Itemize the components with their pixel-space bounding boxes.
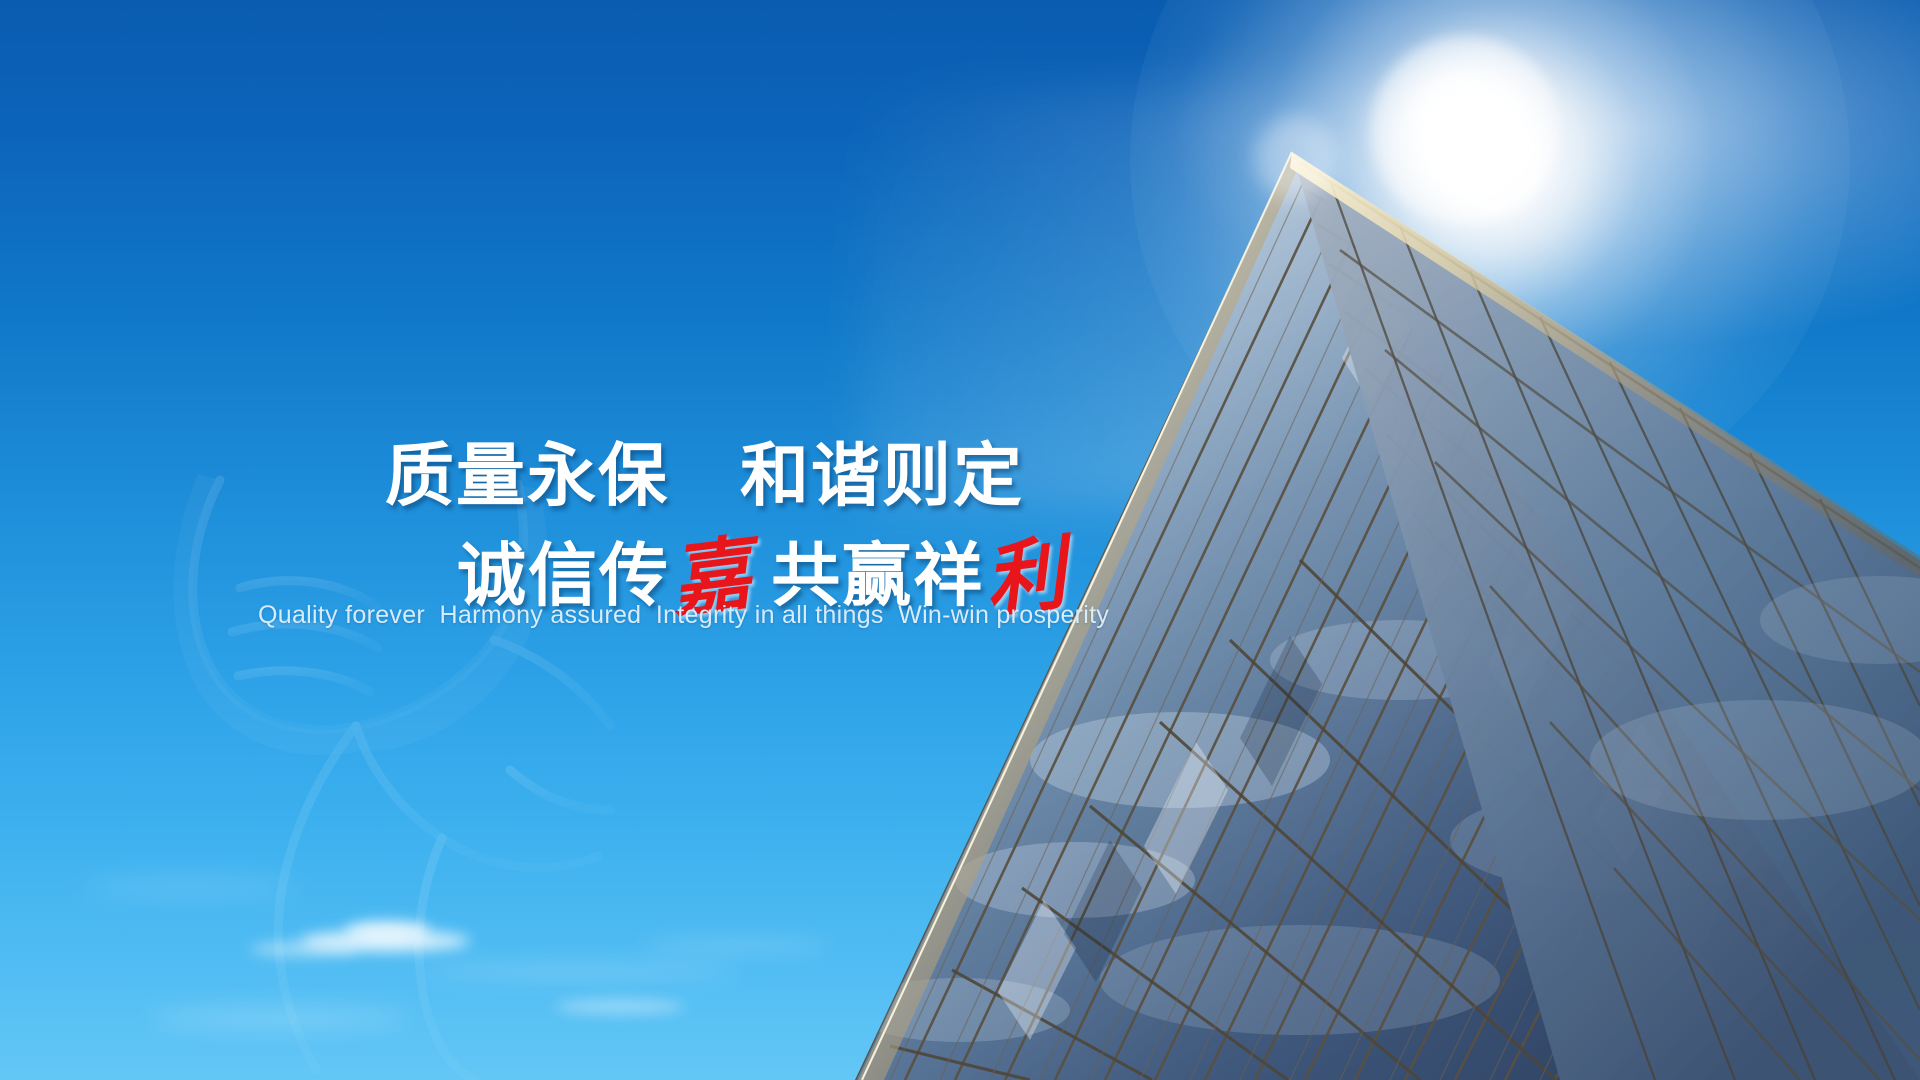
headline-line-2: 诚信传嘉 共赢祥利 bbox=[330, 462, 1064, 680]
cloud-icon bbox=[345, 921, 430, 941]
cloud-icon bbox=[555, 1000, 685, 1013]
sun-core-icon bbox=[1370, 35, 1560, 225]
sun-glow-icon bbox=[1130, 0, 1850, 520]
sky-haze bbox=[900, 0, 1920, 430]
cloud-icon bbox=[300, 930, 470, 952]
headline-subtitle: Quality forever Harmony assured Integrit… bbox=[258, 601, 1109, 630]
cloud-icon bbox=[80, 880, 300, 894]
cloud-icon bbox=[640, 940, 830, 951]
headline-block: 质量永保 和谐则定 诚信传嘉 共赢祥利 Quality forever Harm… bbox=[0, 0, 1920, 1080]
banner-stage: 质量永保 和谐则定 诚信传嘉 共赢祥利 Quality forever Harm… bbox=[0, 0, 1920, 1080]
cloud-icon bbox=[420, 965, 740, 977]
cloud-icon bbox=[150, 1010, 410, 1026]
cloud-icon bbox=[250, 942, 360, 956]
